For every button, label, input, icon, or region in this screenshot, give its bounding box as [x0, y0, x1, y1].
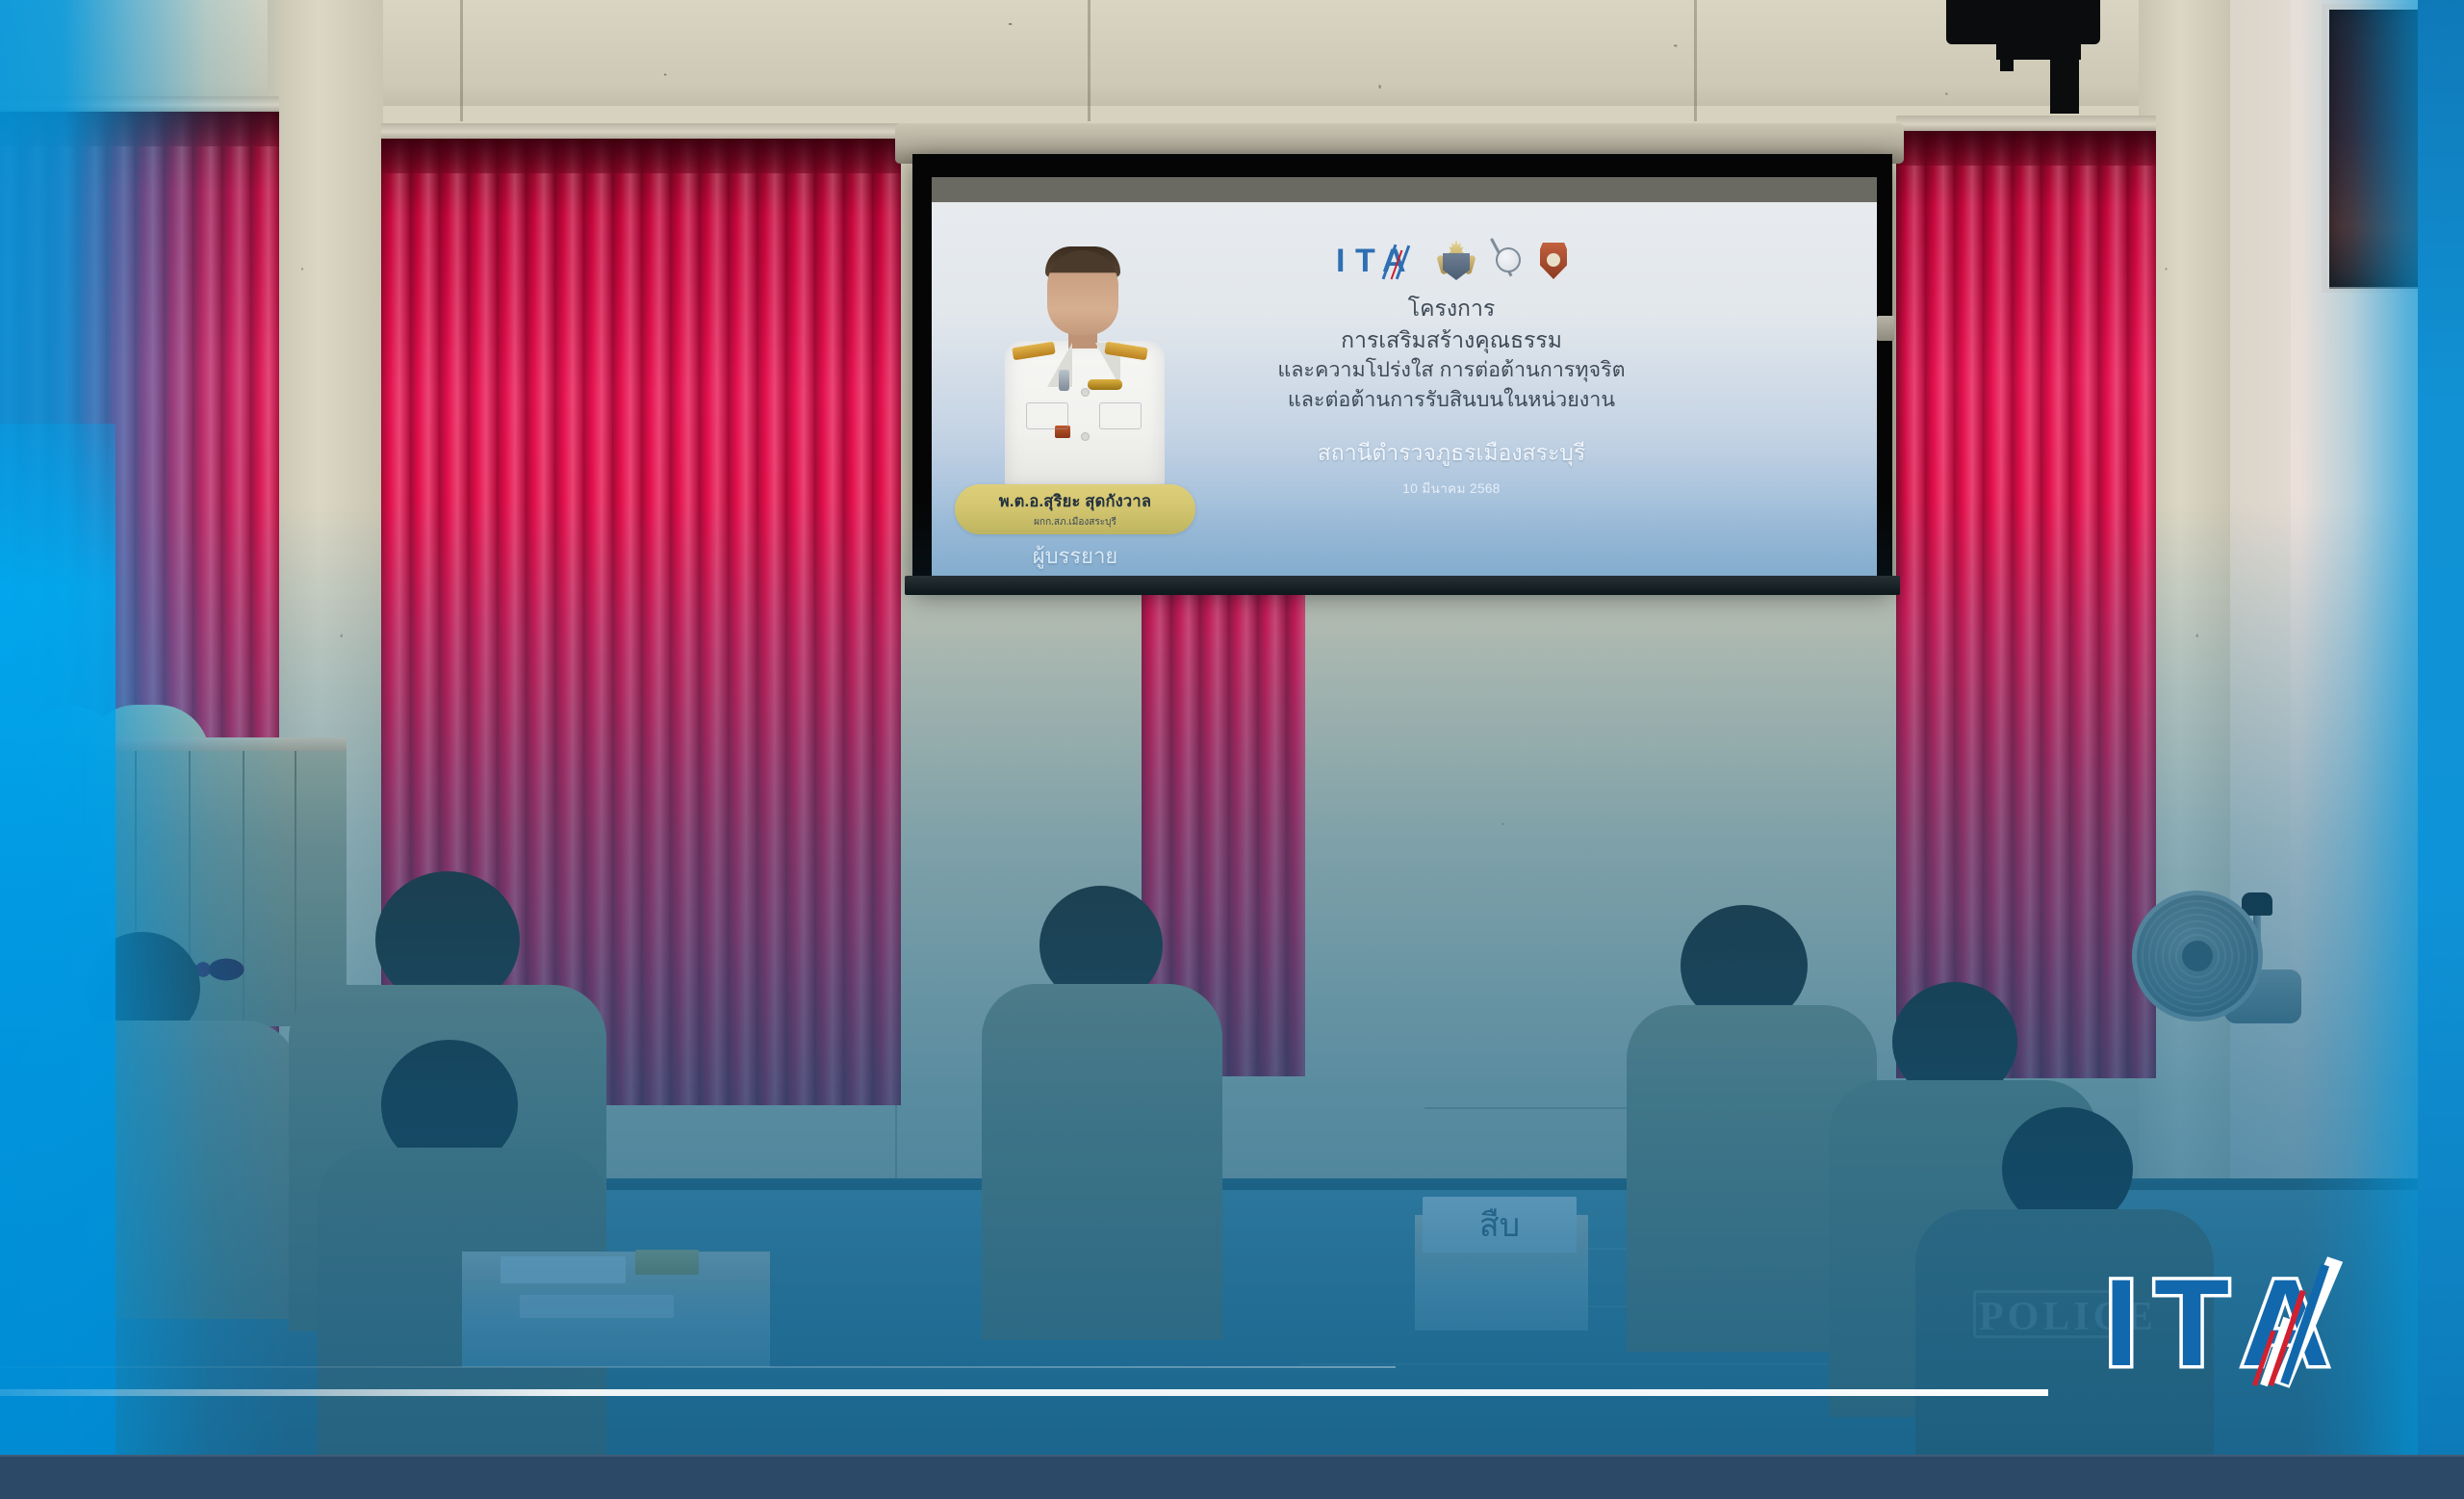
speaker-rank: ผกก.สภ.เมืองสระบุรี [1034, 515, 1116, 530]
tv-arm-vertical [2050, 39, 2079, 114]
speaker-role-label: ผู้บรรยาย [955, 539, 1195, 573]
police-shield-icon [1540, 243, 1567, 279]
screen-side-tab [1877, 316, 1894, 341]
person-center [982, 886, 1222, 1338]
bottom-navy-bar [0, 1455, 2464, 1499]
decorative-rule-thin [0, 1366, 1396, 1368]
desk-nameplate-text: สืบ [1479, 1199, 1520, 1251]
tv-wall-mount [1946, 0, 2110, 116]
speaker-name-plaque: พ.ต.อ.สุริยะ สุดกังวาล ผกก.สภ.เมืองสระบุ… [955, 484, 1195, 534]
projection-screen-weight-bar [905, 576, 1900, 595]
desk-nameplate: สืบ [1423, 1197, 1577, 1253]
photo-canvas: พ.ต.อ.สุริยะ สุดกังวาล ผกก.สภ.เมืองสระบุ… [0, 0, 2464, 1499]
uniform-pocket-left [1026, 402, 1068, 429]
slide-title-block: โครงการ การเสริมสร้างคุณธรรม และความโปร่… [1220, 293, 1682, 414]
speaker-portrait-photo [988, 245, 1180, 485]
slide-footer: สถานีตำรวจภูธรเมืองสระบุรี 10 มีนาคม 256… [1220, 436, 1682, 499]
slide-top-shadow [932, 177, 1877, 202]
wall-fan [2132, 891, 2300, 1083]
projection-screen-surface: พ.ต.อ.สุริยะ สุดกังวาล ผกก.สภ.เมืองสระบุ… [932, 177, 1877, 580]
ceiling-seam-3 [1694, 0, 1697, 121]
curtain-valance-left [0, 112, 279, 146]
slide-station-name: สถานีตำรวจภูธรเมืองสระบุรี [1220, 436, 1682, 471]
ita-watermark-logo: I T A [2098, 1256, 2416, 1401]
speaker-face [1047, 250, 1118, 335]
ita-logo-slide: ITA [1336, 245, 1424, 277]
curtain-valance-center [381, 139, 901, 173]
slide-title-line-3: และความโปร่งใส การต่อต้านการทุจริต [1220, 355, 1682, 385]
ceiling-seam-1 [460, 0, 463, 121]
speaker-name: พ.ต.อ.สุริยะ สุดกังวาล [999, 489, 1151, 514]
decorative-rule-white [0, 1389, 2048, 1396]
person-body [19, 1021, 298, 1319]
magnifier-icon [1488, 240, 1525, 282]
uniform-badge [1059, 370, 1069, 391]
person-body [982, 984, 1222, 1340]
uniform-wing-insignia [1088, 379, 1122, 390]
uniform-button-2 [1082, 433, 1089, 440]
meeting-room-background: พ.ต.อ.สุริยะ สุดกังวาล ผกก.สภ.เมืองสระบุ… [0, 0, 2464, 1499]
slide-title-line-2: การเสริมสร้างคุณธรรม [1220, 324, 1682, 356]
paper-stack-1 [500, 1256, 626, 1283]
slide-title-line-1: โครงการ [1220, 293, 1682, 324]
ceiling-seam-2 [1088, 0, 1091, 121]
curtain-fabric-right [1896, 131, 2156, 1078]
slide-logo-row: ITA [1249, 237, 1654, 285]
right-window-frame [2322, 4, 2437, 293]
ita-letter-i: I [2104, 1262, 2139, 1385]
tv-arm-post [2000, 39, 2014, 71]
slide-date: 10 มีนาคม 2568 [1220, 478, 1682, 499]
gold-book [635, 1250, 699, 1275]
projection-screen: พ.ต.อ.สุริยะ สุดกังวาล ผกก.สภ.เมืองสระบุ… [912, 154, 1892, 587]
fan-hub [2182, 941, 2213, 971]
uniform-button-1 [1082, 389, 1089, 396]
person-front-left [19, 932, 298, 1317]
garuda-emblem-icon [1440, 240, 1473, 282]
ita-letter-t: T [2154, 1262, 2229, 1385]
slide-title-line-4: และต่อต้านการรับสินบนในหน่วยงาน [1220, 385, 1682, 415]
paper-stack-2 [520, 1295, 674, 1318]
curtain-valance-right [1896, 131, 2156, 166]
presentation-slide: พ.ต.อ.สุริยะ สุดกังวาล ผกก.สภ.เมืองสระบุ… [932, 200, 1877, 580]
red-curtains-right [1896, 116, 2156, 1078]
uniform-pocket-right [1099, 402, 1142, 429]
